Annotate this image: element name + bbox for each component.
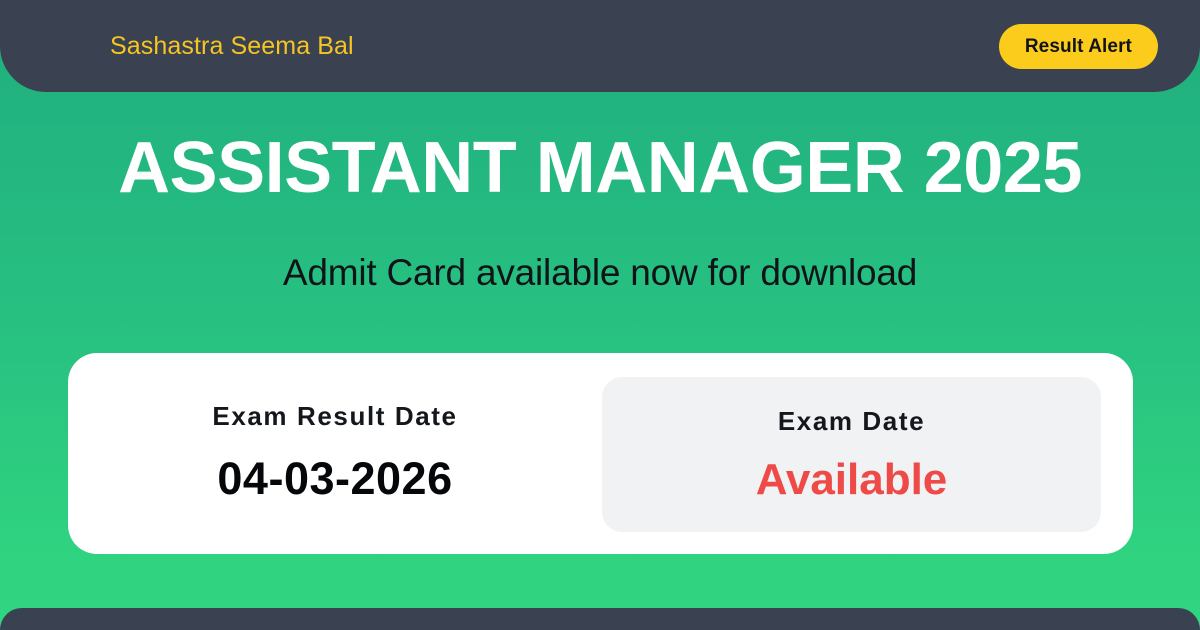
bottom-footer-bar — [0, 608, 1200, 630]
page-title: ASSISTANT MANAGER 2025 — [0, 132, 1200, 205]
exam-result-date-label: Exam Result Date — [212, 403, 457, 429]
page-subtitle: Admit Card available now for download — [0, 205, 1200, 291]
exam-info-card: Exam Result Date 04-03-2026 Exam Date Av… — [68, 353, 1133, 554]
top-header-bar: Sashastra Seema Bal Result Alert — [0, 0, 1200, 92]
exam-result-date-value: 04-03-2026 — [217, 456, 452, 501]
organization-name: Sashastra Seema Bal — [110, 34, 354, 59]
result-alert-badge[interactable]: Result Alert — [999, 24, 1158, 69]
result-alert-poster: Sashastra Seema Bal Result Alert ASSISTA… — [0, 0, 1200, 630]
exam-date-status-value: Available — [756, 458, 948, 502]
exam-date-label: Exam Date — [778, 408, 925, 434]
exam-result-date-cell: Exam Result Date 04-03-2026 — [68, 353, 602, 554]
hero-text-block: ASSISTANT MANAGER 2025 Admit Card availa… — [0, 132, 1200, 291]
exam-date-cell: Exam Date Available — [602, 377, 1101, 532]
